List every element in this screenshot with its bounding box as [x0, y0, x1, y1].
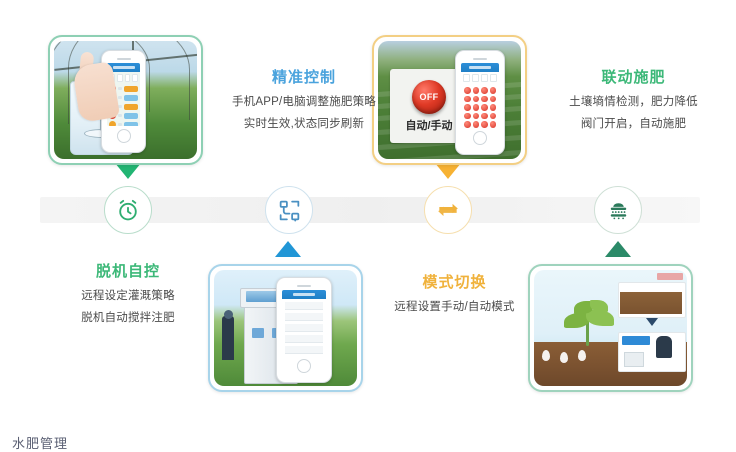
- phone-screen-settings[interactable]: [282, 290, 326, 356]
- app-tab[interactable]: [463, 74, 470, 82]
- desc-precise-control-line1: 手机APP/电脑调整施肥策略: [214, 94, 394, 111]
- hand-illustration: [72, 61, 120, 123]
- app-tab[interactable]: [125, 74, 131, 82]
- row-text-placeholder: [118, 96, 122, 99]
- pointer-triangle-mode-switch: [435, 163, 461, 179]
- device-box-icon: [624, 352, 644, 367]
- phone-home-button[interactable]: [297, 359, 311, 373]
- app-tab-row[interactable]: [461, 72, 499, 84]
- valve-icon[interactable]: [464, 87, 471, 94]
- phone-home-button[interactable]: [473, 131, 487, 145]
- off-button[interactable]: OFF: [412, 80, 446, 114]
- app-tab[interactable]: [117, 74, 123, 82]
- desc-offline-auto-control-line2: 脱机自动搅拌注肥: [48, 310, 208, 327]
- valve-icon[interactable]: [473, 121, 480, 128]
- valve-icon[interactable]: [481, 104, 488, 111]
- phone-mockup-settings-form[interactable]: [276, 277, 332, 383]
- field-station-icon: [656, 336, 672, 358]
- phone-mockup-valve-grid[interactable]: [455, 50, 505, 155]
- valve-grid[interactable]: [461, 84, 499, 128]
- card-soil-sensor-plant[interactable]: [528, 264, 693, 392]
- pointer-triangle-linked-fertilization: [605, 241, 631, 257]
- heading-precise-control: 精准控制: [214, 70, 394, 85]
- soil-cross-section: [620, 292, 682, 314]
- text-block-offline-auto-control: 脱机自控 远程设定灌溉策略 脱机自动搅拌注肥: [48, 264, 208, 326]
- operator-head: [224, 310, 233, 319]
- alarm-clock-icon[interactable]: [104, 186, 152, 234]
- app-tab[interactable]: [490, 74, 497, 82]
- plant-leaf: [590, 300, 608, 312]
- valve-icon[interactable]: [490, 96, 497, 103]
- phone-speaker: [117, 58, 131, 60]
- diagram-canvas: OFF 自动/手动: [0, 0, 736, 449]
- phone-screen-valve-grid[interactable]: [461, 63, 499, 128]
- app-tab[interactable]: [481, 74, 488, 82]
- settings-field[interactable]: [285, 302, 323, 310]
- row-badge: [124, 95, 138, 101]
- valve-icon[interactable]: [490, 87, 497, 94]
- operator-figure: [222, 316, 234, 360]
- valve-icon[interactable]: [481, 87, 488, 94]
- valve-icon[interactable]: [481, 96, 488, 103]
- settings-field[interactable]: [285, 346, 323, 354]
- settings-field[interactable]: [285, 335, 323, 343]
- text-block-precise-control: 精准控制 手机APP/电脑调整施肥策略 实时生效,状态同步刷新: [214, 70, 394, 132]
- heading-offline-auto-control: 脱机自控: [48, 264, 208, 279]
- status-dot-icon: [109, 121, 116, 126]
- app-tab[interactable]: [472, 74, 479, 82]
- desc-mode-switch-line1: 远程设置手动/自动模式: [372, 299, 537, 316]
- row-text-placeholder: [118, 87, 122, 90]
- pointer-triangle-offline-auto-control: [115, 163, 141, 179]
- valve-icon[interactable]: [464, 121, 471, 128]
- text-block-linked-fertilization: 联动施肥 土壤墒情检测，肥力降低 阀门开启，自动施肥: [536, 70, 731, 132]
- row-badge: [124, 122, 138, 127]
- valve-icon[interactable]: [464, 104, 471, 111]
- pointer-triangle-precise-control: [275, 241, 301, 257]
- swap-arrows-icon[interactable]: [424, 186, 472, 234]
- valve-icon[interactable]: [481, 113, 488, 120]
- row-badge: [124, 104, 138, 110]
- valve-icon[interactable]: [464, 113, 471, 120]
- machine-button: [252, 328, 264, 338]
- desc-linked-fertilization-line2: 阀门开启，自动施肥: [536, 116, 731, 133]
- sensor-label-tag: [657, 273, 683, 280]
- valve-icon[interactable]: [464, 96, 471, 103]
- settings-form[interactable]: [282, 299, 326, 356]
- valve-icon[interactable]: [473, 113, 480, 120]
- flow-arrow-icon: [646, 318, 658, 326]
- valve-icon[interactable]: [490, 113, 497, 120]
- text-block-mode-switch: 模式切换 远程设置手动/自动模式: [372, 275, 537, 316]
- heading-linked-fertilization: 联动施肥: [536, 70, 731, 85]
- app-tab[interactable]: [132, 74, 138, 82]
- row-text-placeholder: [118, 114, 122, 117]
- row-text-placeholder: [118, 123, 122, 126]
- desc-linked-fertilization-line1: 土壤墒情检测，肥力降低: [536, 94, 731, 111]
- heading-mode-switch: 模式切换: [372, 275, 537, 290]
- sprinkler-icon[interactable]: [594, 186, 642, 234]
- valve-icon[interactable]: [490, 121, 497, 128]
- settings-field[interactable]: [285, 313, 323, 321]
- off-button-label: 自动/手动: [405, 117, 452, 133]
- app-list-row[interactable]: [107, 120, 140, 126]
- footer-caption: 水肥管理: [12, 433, 68, 452]
- app-header-bar: [461, 63, 499, 72]
- phone-speaker: [473, 58, 487, 60]
- row-badge: [124, 86, 138, 92]
- card-soil-artwork: [534, 270, 687, 386]
- row-badge: [124, 113, 138, 119]
- controller-screen: [622, 336, 650, 345]
- device-network-icon[interactable]: [265, 186, 313, 234]
- valve-icon[interactable]: [490, 104, 497, 111]
- valve-icon[interactable]: [473, 87, 480, 94]
- valve-icon[interactable]: [481, 121, 488, 128]
- desc-precise-control-line2: 实时生效,状态同步刷新: [214, 116, 394, 133]
- phone-home-button[interactable]: [117, 129, 131, 143]
- app-header-bar: [282, 290, 326, 299]
- settings-field[interactable]: [285, 324, 323, 332]
- valve-icon[interactable]: [473, 96, 480, 103]
- phone-speaker: [297, 285, 311, 287]
- valve-icon[interactable]: [473, 104, 480, 111]
- desc-offline-auto-control-line1: 远程设定灌溉策略: [48, 288, 208, 305]
